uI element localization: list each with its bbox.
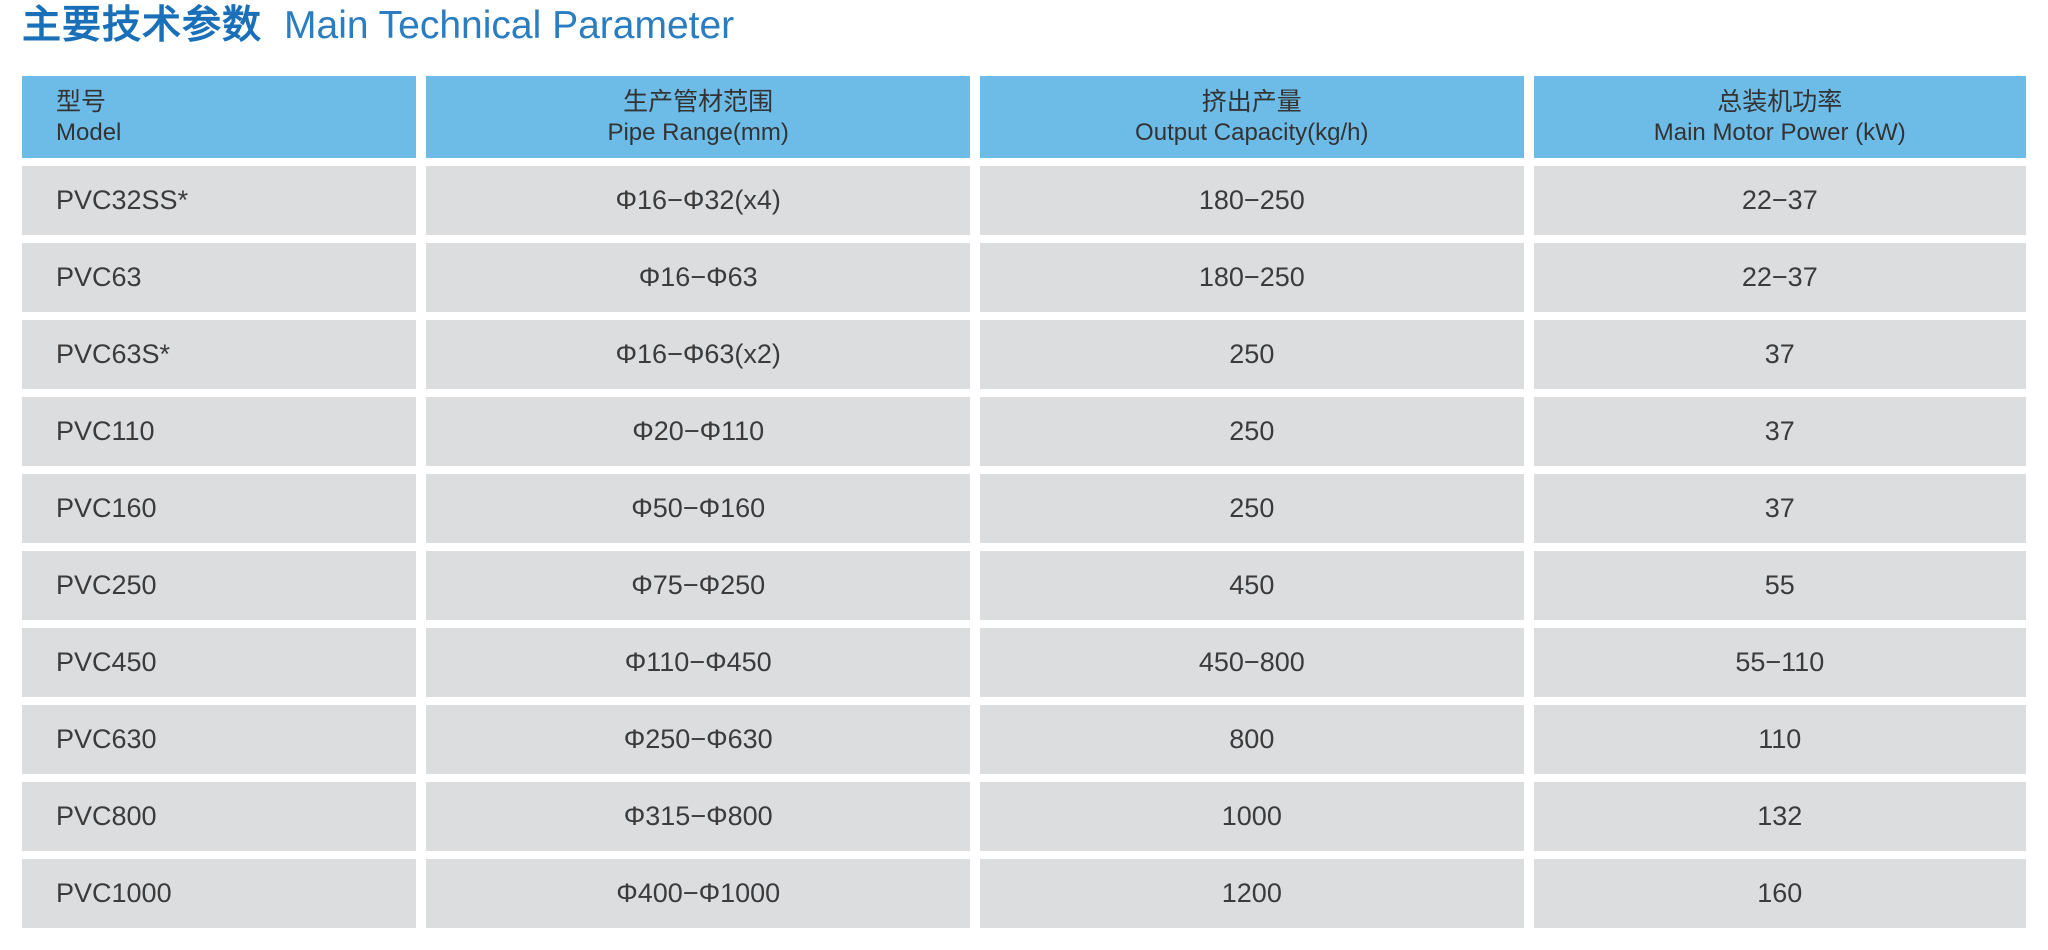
column-divider bbox=[1524, 243, 1534, 312]
table-row: PVC110Φ20−Φ11025037 bbox=[22, 397, 2026, 466]
cell-motor-power: 37 bbox=[1534, 397, 2026, 466]
column-divider bbox=[416, 628, 426, 697]
column-divider bbox=[1524, 705, 1534, 774]
cell-output-capacity: 800 bbox=[980, 705, 1524, 774]
cell-motor-power: 22−37 bbox=[1534, 166, 2026, 235]
column-header-output-capacity-en: Output Capacity(kg/h) bbox=[1135, 118, 1368, 149]
cell-output-capacity: 180−250 bbox=[980, 166, 1524, 235]
column-divider bbox=[970, 397, 980, 466]
cell-pipe-range: Φ16−Φ32(x4) bbox=[426, 166, 970, 235]
column-divider bbox=[1524, 76, 1534, 158]
cell-pipe-range: Φ20−Φ110 bbox=[426, 397, 970, 466]
cell-motor-power: 110 bbox=[1534, 705, 2026, 774]
cell-output-capacity: 1200 bbox=[980, 859, 1524, 928]
column-divider bbox=[970, 474, 980, 543]
column-divider bbox=[416, 76, 426, 158]
table-row: PVC630Φ250−Φ630800110 bbox=[22, 705, 2026, 774]
cell-motor-power: 132 bbox=[1534, 782, 2026, 851]
column-divider bbox=[416, 705, 426, 774]
column-divider bbox=[416, 320, 426, 389]
column-divider bbox=[970, 782, 980, 851]
column-divider bbox=[1524, 859, 1534, 928]
cell-output-capacity: 450 bbox=[980, 551, 1524, 620]
cell-motor-power: 55−110 bbox=[1534, 628, 2026, 697]
column-divider bbox=[970, 243, 980, 312]
cell-motor-power: 55 bbox=[1534, 551, 2026, 620]
table-row: PVC450Φ110−Φ450450−80055−110 bbox=[22, 628, 2026, 697]
table-row: PVC63Φ16−Φ63180−25022−37 bbox=[22, 243, 2026, 312]
table-row: PVC160Φ50−Φ16025037 bbox=[22, 474, 2026, 543]
cell-pipe-range: Φ75−Φ250 bbox=[426, 551, 970, 620]
column-header-pipe-range: 生产管材范围 Pipe Range(mm) bbox=[426, 76, 970, 158]
table-row: PVC63S*Φ16−Φ63(x2)25037 bbox=[22, 320, 2026, 389]
table-row: PVC800Φ315−Φ8001000132 bbox=[22, 782, 2026, 851]
cell-pipe-range: Φ16−Φ63(x2) bbox=[426, 320, 970, 389]
column-header-motor-power: 总装机功率 Main Motor Power (kW) bbox=[1534, 76, 2026, 158]
page-title: 主要技术参数 Main Technical Parameter bbox=[22, 6, 734, 58]
cell-pipe-range: Φ110−Φ450 bbox=[426, 628, 970, 697]
column-divider bbox=[416, 551, 426, 620]
column-divider bbox=[1524, 474, 1534, 543]
table-row: PVC1000Φ400−Φ10001200160 bbox=[22, 859, 2026, 928]
cell-motor-power: 37 bbox=[1534, 320, 2026, 389]
column-divider bbox=[416, 166, 426, 235]
page-title-english: Main Technical Parameter bbox=[284, 6, 734, 45]
cell-model: PVC1000 bbox=[22, 859, 416, 928]
column-header-model: 型号 Model bbox=[22, 76, 416, 158]
column-header-pipe-range-cn: 生产管材范围 bbox=[623, 86, 773, 118]
column-divider bbox=[970, 320, 980, 389]
column-header-output-capacity: 挤出产量 Output Capacity(kg/h) bbox=[980, 76, 1524, 158]
table-row: PVC32SS*Φ16−Φ32(x4)180−25022−37 bbox=[22, 166, 2026, 235]
technical-parameter-table: 型号 Model 生产管材范围 Pipe Range(mm) 挤出产量 Outp… bbox=[22, 76, 2026, 936]
column-divider bbox=[416, 782, 426, 851]
cell-output-capacity: 450−800 bbox=[980, 628, 1524, 697]
column-divider bbox=[970, 859, 980, 928]
column-divider bbox=[970, 628, 980, 697]
column-divider bbox=[416, 859, 426, 928]
column-divider bbox=[970, 76, 980, 158]
cell-pipe-range: Φ250−Φ630 bbox=[426, 705, 970, 774]
column-divider bbox=[1524, 397, 1534, 466]
column-divider bbox=[1524, 166, 1534, 235]
column-divider bbox=[970, 166, 980, 235]
cell-pipe-range: Φ50−Φ160 bbox=[426, 474, 970, 543]
cell-model: PVC630 bbox=[22, 705, 416, 774]
cell-motor-power: 22−37 bbox=[1534, 243, 2026, 312]
table-row: PVC250Φ75−Φ25045055 bbox=[22, 551, 2026, 620]
cell-model: PVC800 bbox=[22, 782, 416, 851]
cell-model: PVC450 bbox=[22, 628, 416, 697]
cell-model: PVC250 bbox=[22, 551, 416, 620]
cell-motor-power: 160 bbox=[1534, 859, 2026, 928]
column-header-model-en: Model bbox=[56, 118, 121, 149]
column-divider bbox=[970, 705, 980, 774]
column-divider bbox=[416, 243, 426, 312]
column-header-motor-power-cn: 总装机功率 bbox=[1717, 86, 1842, 118]
column-header-output-capacity-cn: 挤出产量 bbox=[1202, 86, 1302, 118]
cell-pipe-range: Φ16−Φ63 bbox=[426, 243, 970, 312]
column-divider bbox=[416, 474, 426, 543]
cell-model: PVC63 bbox=[22, 243, 416, 312]
column-header-motor-power-en: Main Motor Power (kW) bbox=[1654, 118, 1906, 149]
column-divider bbox=[416, 397, 426, 466]
cell-model: PVC32SS* bbox=[22, 166, 416, 235]
cell-model: PVC160 bbox=[22, 474, 416, 543]
cell-model: PVC63S* bbox=[22, 320, 416, 389]
cell-output-capacity: 1000 bbox=[980, 782, 1524, 851]
column-divider bbox=[1524, 320, 1534, 389]
cell-output-capacity: 250 bbox=[980, 320, 1524, 389]
cell-motor-power: 37 bbox=[1534, 474, 2026, 543]
column-header-model-cn: 型号 bbox=[56, 86, 106, 118]
column-divider bbox=[1524, 551, 1534, 620]
table-body: PVC32SS*Φ16−Φ32(x4)180−25022−37PVC63Φ16−… bbox=[22, 166, 2026, 928]
cell-output-capacity: 180−250 bbox=[980, 243, 1524, 312]
parameter-table-page: 主要技术参数 Main Technical Parameter 型号 Model… bbox=[0, 0, 2048, 950]
cell-model: PVC110 bbox=[22, 397, 416, 466]
cell-pipe-range: Φ400−Φ1000 bbox=[426, 859, 970, 928]
table-header-row: 型号 Model 生产管材范围 Pipe Range(mm) 挤出产量 Outp… bbox=[22, 76, 2026, 158]
cell-pipe-range: Φ315−Φ800 bbox=[426, 782, 970, 851]
cell-output-capacity: 250 bbox=[980, 397, 1524, 466]
column-divider bbox=[1524, 782, 1534, 851]
column-divider bbox=[970, 551, 980, 620]
page-title-chinese: 主要技术参数 bbox=[22, 6, 262, 45]
column-header-pipe-range-en: Pipe Range(mm) bbox=[607, 118, 788, 149]
column-divider bbox=[1524, 628, 1534, 697]
cell-output-capacity: 250 bbox=[980, 474, 1524, 543]
